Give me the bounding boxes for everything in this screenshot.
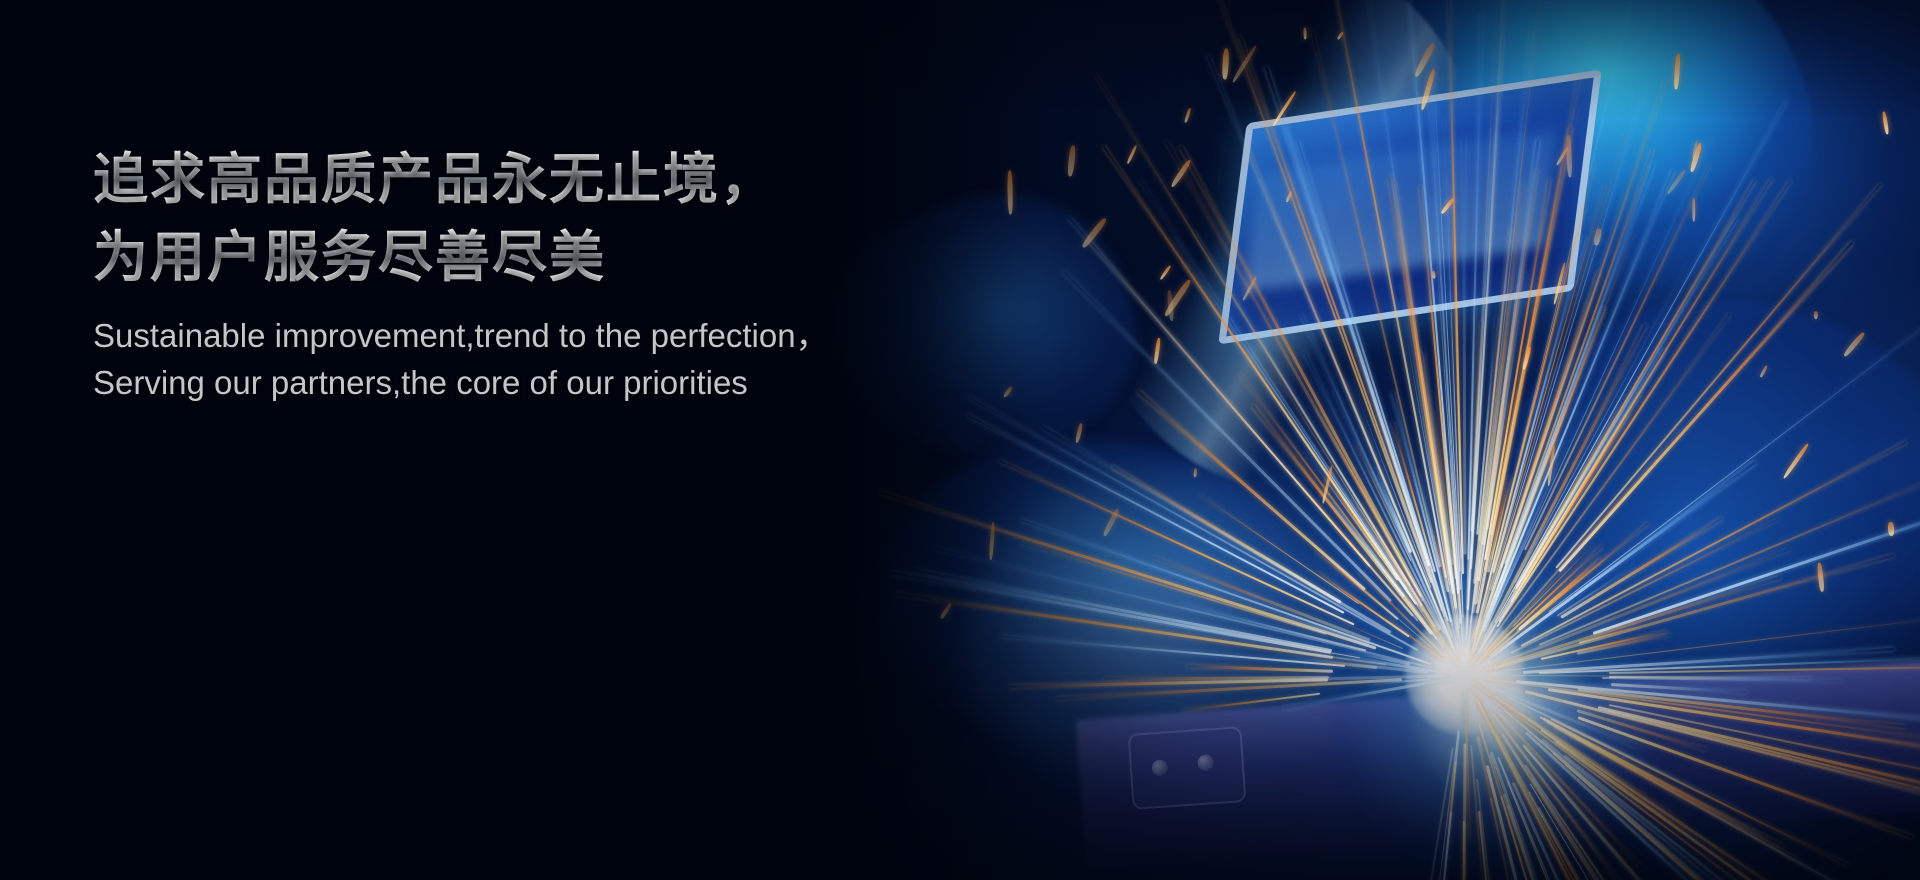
headline-line-1: 追求高品质产品永无止境， bbox=[93, 140, 829, 218]
hero-banner: 追求高品质产品永无止境， 为用户服务尽善尽美 Sustainable impro… bbox=[0, 0, 1920, 880]
photo-top-fade bbox=[0, 0, 1920, 120]
photo-bottom-fade bbox=[0, 580, 1920, 880]
subheadline-line-2: Serving our partners,the core of our pri… bbox=[93, 359, 829, 406]
subheadline-line-1: Sustainable improvement,trend to the per… bbox=[93, 312, 829, 359]
subheadline-group: Sustainable improvement,trend to the per… bbox=[93, 312, 829, 406]
hero-copy: 追求高品质产品永无止境， 为用户服务尽善尽美 Sustainable impro… bbox=[93, 140, 829, 406]
welding-photo bbox=[0, 0, 1920, 880]
headline-line-2: 为用户服务尽善尽美 bbox=[93, 218, 829, 296]
